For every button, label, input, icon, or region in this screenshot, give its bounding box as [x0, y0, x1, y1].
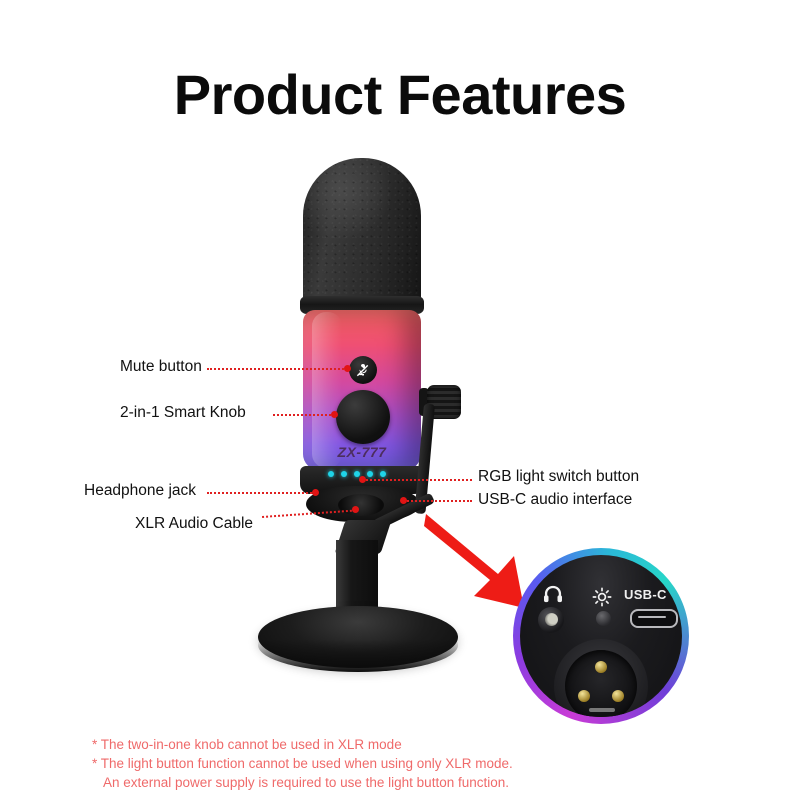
leader-dot-mute: [344, 365, 351, 372]
leader-dot-knob: [331, 411, 338, 418]
usb-c-label: USB-C: [624, 587, 667, 602]
footnote-line: * The light button function cannot be us…: [92, 754, 513, 773]
leader-dot-usbc: [400, 497, 407, 504]
brand-label: ZX-777: [303, 444, 421, 460]
footnote-line: * The two-in-one knob cannot be used in …: [92, 735, 513, 754]
headphone-icon: [542, 585, 564, 603]
xlr-pin: [578, 690, 590, 702]
callout-label-smart-knob: 2-in-1 Smart Knob: [120, 404, 246, 422]
xlr-pin: [612, 690, 624, 702]
callout-label-mute-button: Mute button: [120, 358, 202, 376]
stand-base-lip: [258, 618, 458, 672]
footnotes: * The two-in-one knob cannot be used in …: [92, 735, 513, 792]
product-features-infographic: Product Features ZX-777: [0, 0, 800, 800]
smart-knob[interactable]: [336, 390, 390, 444]
led-indicator-row: [328, 471, 386, 477]
led-dot: [328, 471, 334, 477]
callout-label-xlr-audio-cable: XLR Audio Cable: [135, 515, 253, 533]
leader-dot-rgb: [359, 476, 366, 483]
xlr-connector[interactable]: [554, 639, 648, 717]
led-dot: [341, 471, 347, 477]
muted-microphone-icon: [355, 362, 371, 378]
xlr-pin: [595, 661, 607, 673]
mute-button[interactable]: [349, 356, 377, 384]
leader-dot-xlr: [352, 506, 359, 513]
leader-line-headphone: [207, 492, 315, 494]
leader-line-rgb: [362, 479, 472, 481]
bottom-panel-detail: USB-C: [520, 555, 682, 717]
mic-windscreen: [303, 158, 421, 306]
leader-line-knob: [273, 414, 335, 416]
led-dot: [367, 471, 373, 477]
microphone-illustration: ZX-777: [0, 0, 800, 800]
footnote-line: An external power supply is required to …: [92, 773, 513, 792]
rgb-light-switch-button[interactable]: [596, 611, 611, 626]
callout-label-rgb-light-switch: RGB light switch button: [478, 468, 639, 486]
xlr-connector-inner: [565, 650, 637, 717]
xlr-connector-port: [338, 494, 384, 516]
brightness-sun-icon: [592, 587, 612, 607]
callout-label-headphone-jack: Headphone jack: [84, 482, 196, 500]
xlr-notch: [589, 708, 615, 712]
bottom-panel-zoom-callout: USB-C: [513, 548, 689, 724]
leader-line-mute: [207, 368, 348, 370]
headphone-jack-socket[interactable]: [538, 607, 564, 633]
leader-line-usbc: [404, 500, 472, 502]
led-dot: [380, 471, 386, 477]
usb-c-port[interactable]: [630, 609, 678, 628]
leader-dot-headphone: [312, 489, 319, 496]
callout-label-usb-c-interface: USB-C audio interface: [478, 491, 632, 509]
